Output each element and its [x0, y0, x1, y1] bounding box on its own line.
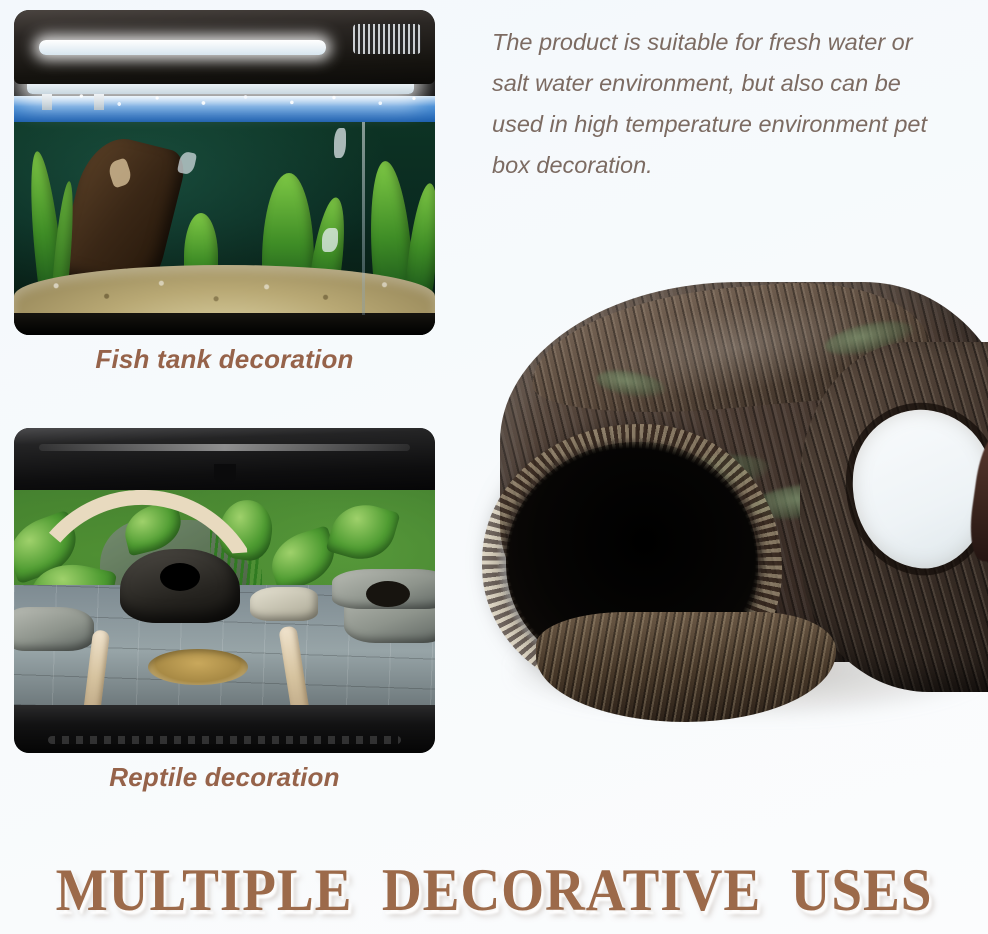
aquarium-photo: [14, 10, 435, 335]
aquarium-hood: [14, 10, 435, 84]
terrarium-scene: [14, 428, 435, 753]
aquarium-led-glow: [39, 40, 325, 55]
aquarium-fish: [334, 128, 346, 158]
terrarium-hood-clip: [214, 464, 236, 482]
terrarium-caption: Reptile decoration: [14, 762, 435, 793]
aquarium-scene: [14, 10, 435, 335]
product-photo: [452, 186, 988, 826]
product-infographic: Fish tank decoration: [0, 0, 988, 934]
terrarium-rock-hole: [366, 581, 410, 607]
aquarium-caption: Fish tank decoration: [14, 344, 435, 375]
aquarium-stand-base: [14, 313, 435, 335]
aquarium-fish: [322, 228, 338, 252]
headline-multiple-decorative-uses: MULTIPLE DECORATIVE USES: [40, 856, 949, 924]
aquarium-glass-seam: [362, 96, 365, 315]
terrarium-photo: [14, 428, 435, 753]
terrarium-background: [14, 490, 435, 705]
product-description: The product is suitable for fresh water …: [492, 22, 954, 186]
terrarium-water-dish: [148, 649, 248, 685]
terrarium-base: [14, 705, 435, 753]
terrarium-branch-arch: [14, 482, 266, 625]
aquarium-vent-grill: [353, 24, 421, 54]
bark-log-hide: [500, 282, 988, 662]
terrarium-leaf: [325, 497, 400, 568]
